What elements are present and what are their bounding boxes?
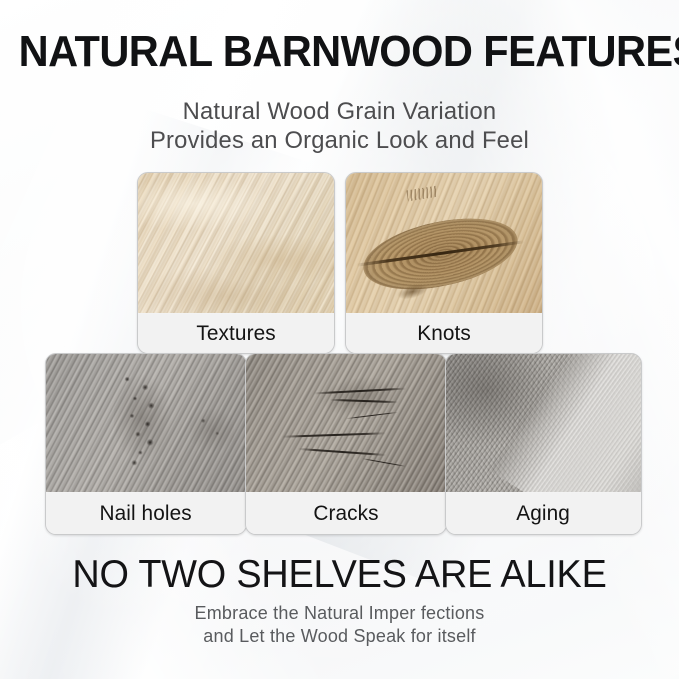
footer-note: Embrace the Natural Imper fections and L…	[0, 602, 679, 647]
wood-swatch-cracks	[246, 354, 446, 492]
feature-label-text: Knots	[417, 322, 471, 346]
feature-card-textures[interactable]: Textures	[137, 172, 335, 354]
feature-thumb-nail-holes	[46, 354, 246, 492]
wood-blotch-shading	[138, 173, 334, 313]
feature-label-text: Cracks	[313, 502, 378, 526]
feature-thumb-cracks	[246, 354, 446, 492]
wood-swatch-aging	[446, 354, 641, 492]
subtitle-line-2: Provides an Organic Look and Feel	[3, 126, 675, 155]
feature-label-text: Nail holes	[100, 502, 192, 526]
wood-swatch-textures	[138, 173, 334, 313]
wood-swatch-knots	[346, 173, 542, 313]
feature-label-aging: Aging	[446, 493, 641, 534]
wood-swatch-nail-holes	[46, 354, 246, 492]
feature-card-knots[interactable]: Knots	[345, 172, 543, 354]
feature-label-text: Textures	[196, 322, 275, 346]
page-title: NATURAL BARNWOOD FEATURES	[19, 27, 661, 77]
footer-note-line-1: Embrace the Natural Imper fections	[0, 602, 679, 625]
nail-hole-cluster	[114, 371, 174, 473]
feature-label-cracks: Cracks	[246, 493, 446, 534]
feature-label-nail-holes: Nail holes	[46, 493, 246, 534]
page-subtitle: Natural Wood Grain Variation Provides an…	[0, 97, 679, 155]
nail-hole-cluster-secondary	[190, 409, 234, 450]
feature-card-cracks[interactable]: Cracks	[245, 353, 447, 535]
feature-label-knots: Knots	[346, 314, 542, 353]
feature-card-nail-holes[interactable]: Nail holes	[45, 353, 247, 535]
feature-card-aging[interactable]: Aging	[445, 353, 642, 535]
feature-label-textures: Textures	[138, 314, 334, 353]
feature-label-text: Aging	[517, 502, 571, 526]
footer-note-line-2: and Let the Wood Speak for itself	[0, 625, 679, 648]
subtitle-line-1: Natural Wood Grain Variation	[3, 97, 675, 126]
feature-thumb-aging	[446, 354, 641, 492]
feature-thumb-textures	[138, 173, 334, 313]
infographic-page: NATURAL BARNWOOD FEATURES Natural Wood G…	[0, 0, 679, 679]
footer-headline: NO TWO SHELVES ARE ALIKE	[10, 553, 669, 597]
feature-thumb-knots	[346, 173, 542, 313]
